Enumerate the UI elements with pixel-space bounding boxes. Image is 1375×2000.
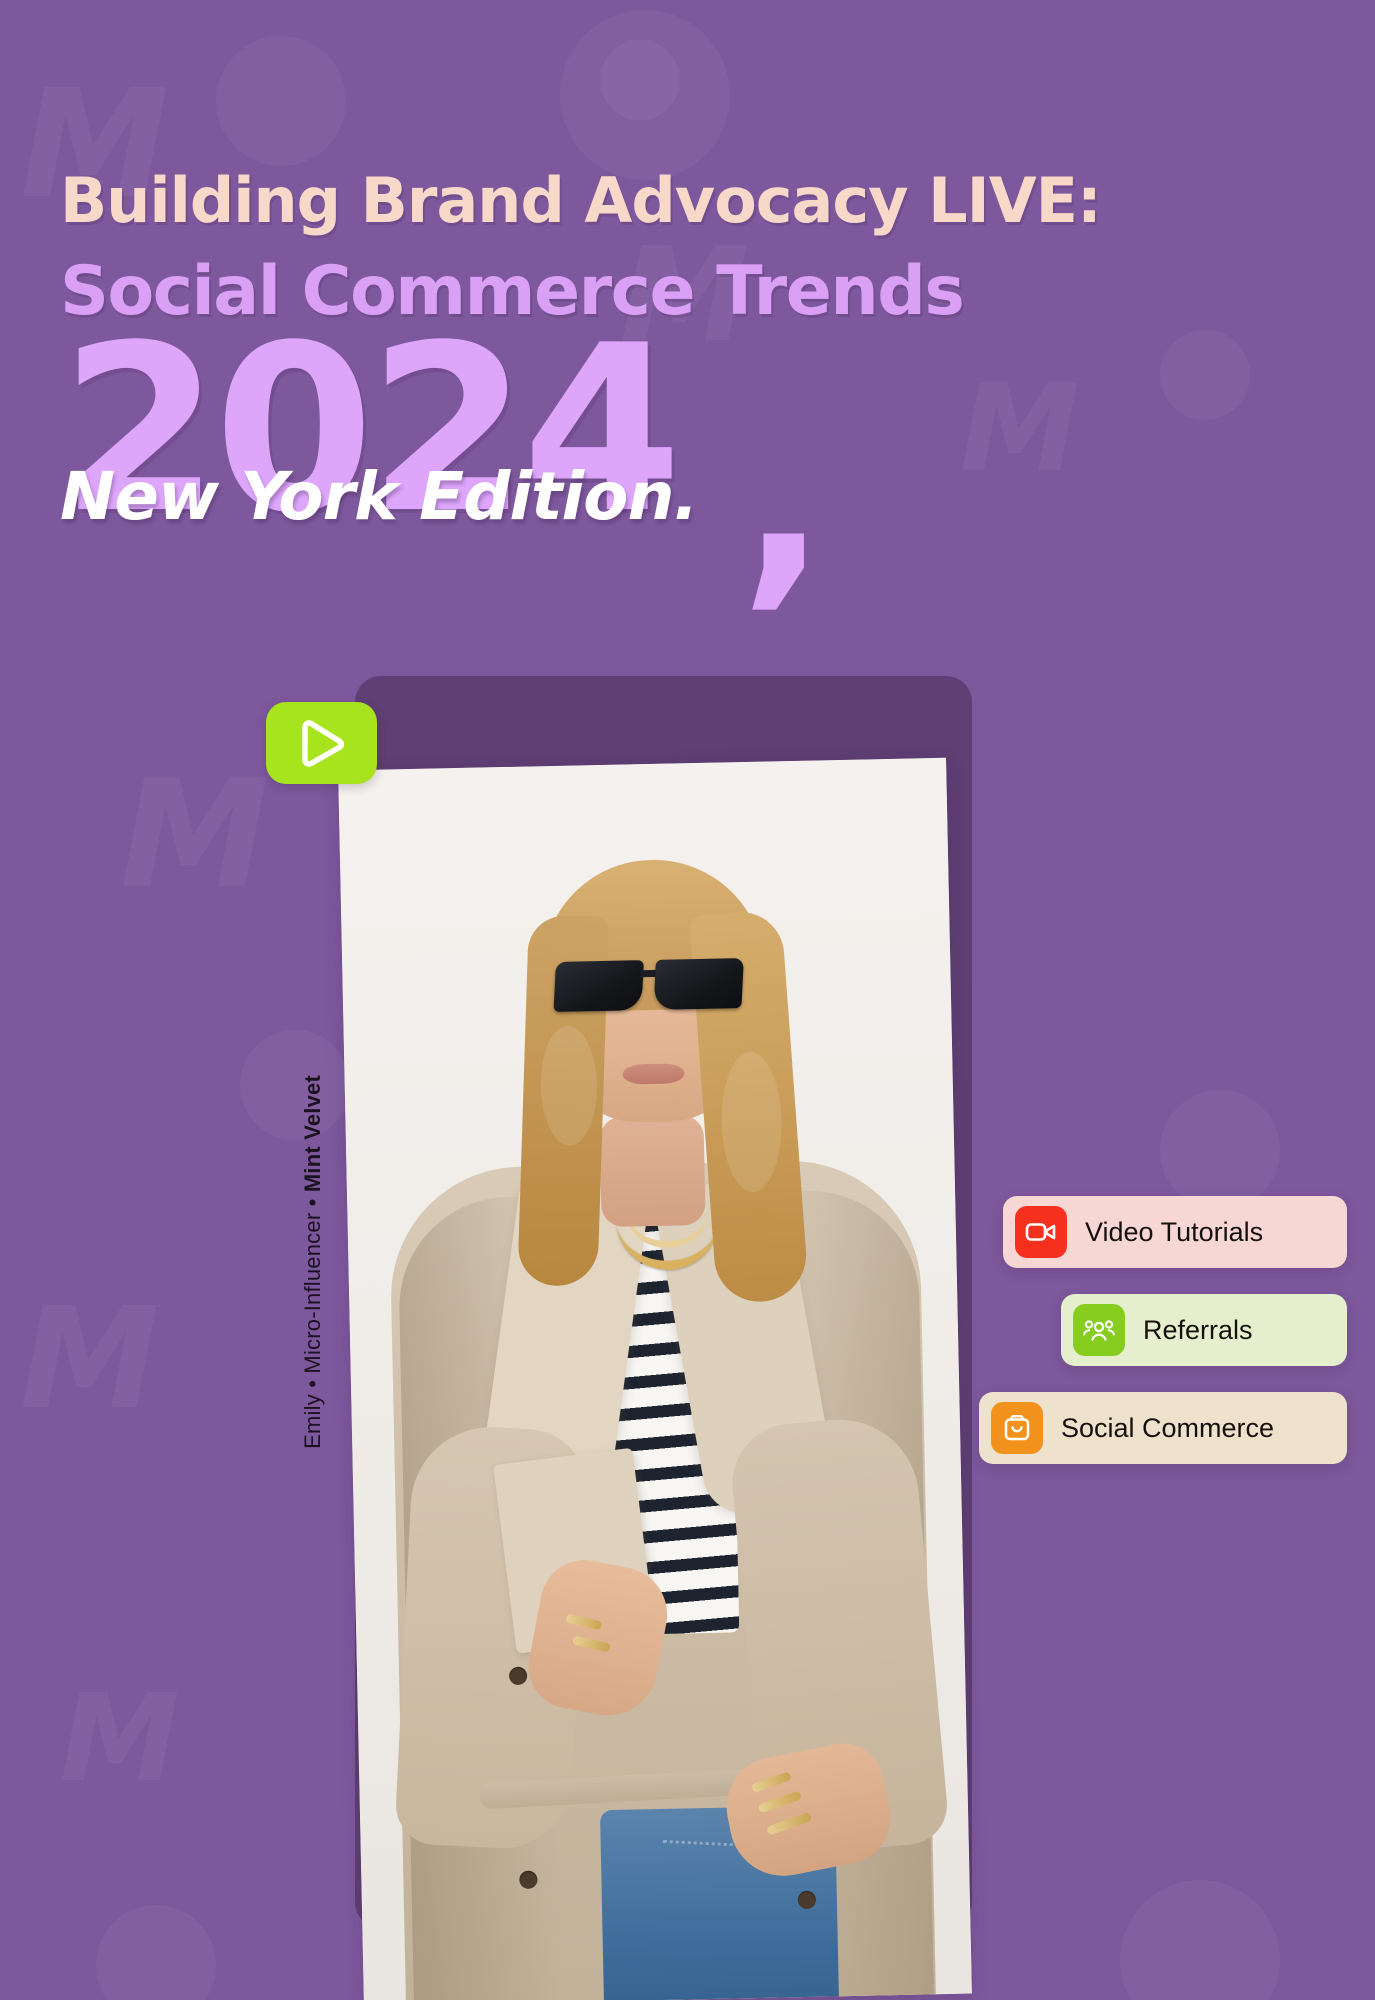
poster-canvas: M M M M M M Building Brand Advocacy LIVE… bbox=[0, 0, 1375, 2000]
credit-prefix: Emily • Micro-Influencer • bbox=[300, 1192, 325, 1449]
decor-circle bbox=[96, 1905, 216, 2000]
decor-circle bbox=[240, 1030, 350, 1140]
neck bbox=[599, 1115, 705, 1227]
decor-circle bbox=[560, 10, 730, 180]
credit-brand: Mint Velvet bbox=[300, 1075, 325, 1192]
watermark-m-icon: M bbox=[60, 1680, 179, 1800]
pill-label: Video Tutorials bbox=[1085, 1217, 1263, 1248]
decor-circle bbox=[1120, 1880, 1280, 2000]
year-block: 2024 , New York Edition. bbox=[60, 324, 1315, 574]
decor-circle bbox=[600, 40, 680, 120]
watermark-m-icon: M bbox=[20, 1290, 159, 1430]
video-camera-icon bbox=[1015, 1206, 1067, 1258]
people-group-icon bbox=[1073, 1304, 1125, 1356]
decor-circle bbox=[1160, 1090, 1280, 1210]
comma-glyph: , bbox=[740, 384, 827, 614]
feature-pill-list: Video Tutorials Referrals bbox=[807, 1196, 1347, 1490]
pill-label: Social Commerce bbox=[1061, 1413, 1274, 1444]
headline-line-1: Building Brand Advocacy LIVE: bbox=[60, 168, 1315, 233]
pill-video-tutorials[interactable]: Video Tutorials bbox=[1003, 1196, 1347, 1268]
sunglass-lens-right bbox=[653, 958, 743, 1010]
influencer-credit: Emily • Micro-Influencer • Mint Velvet bbox=[300, 1075, 326, 1449]
headline-block: Building Brand Advocacy LIVE: Social Com… bbox=[60, 168, 1315, 574]
shopping-bag-icon bbox=[991, 1402, 1043, 1454]
sunglasses bbox=[554, 958, 751, 1014]
pill-social-commerce[interactable]: Social Commerce bbox=[979, 1392, 1347, 1464]
decor-circle bbox=[216, 36, 346, 166]
play-button[interactable] bbox=[266, 702, 377, 784]
pill-referrals[interactable]: Referrals bbox=[1061, 1294, 1347, 1366]
pill-label: Referrals bbox=[1143, 1315, 1253, 1346]
lips bbox=[622, 1063, 684, 1084]
play-icon bbox=[293, 714, 351, 772]
edition-text: New York Edition. bbox=[60, 464, 698, 530]
watermark-m-icon: M bbox=[120, 760, 269, 910]
sunglass-lens-left bbox=[553, 960, 643, 1012]
